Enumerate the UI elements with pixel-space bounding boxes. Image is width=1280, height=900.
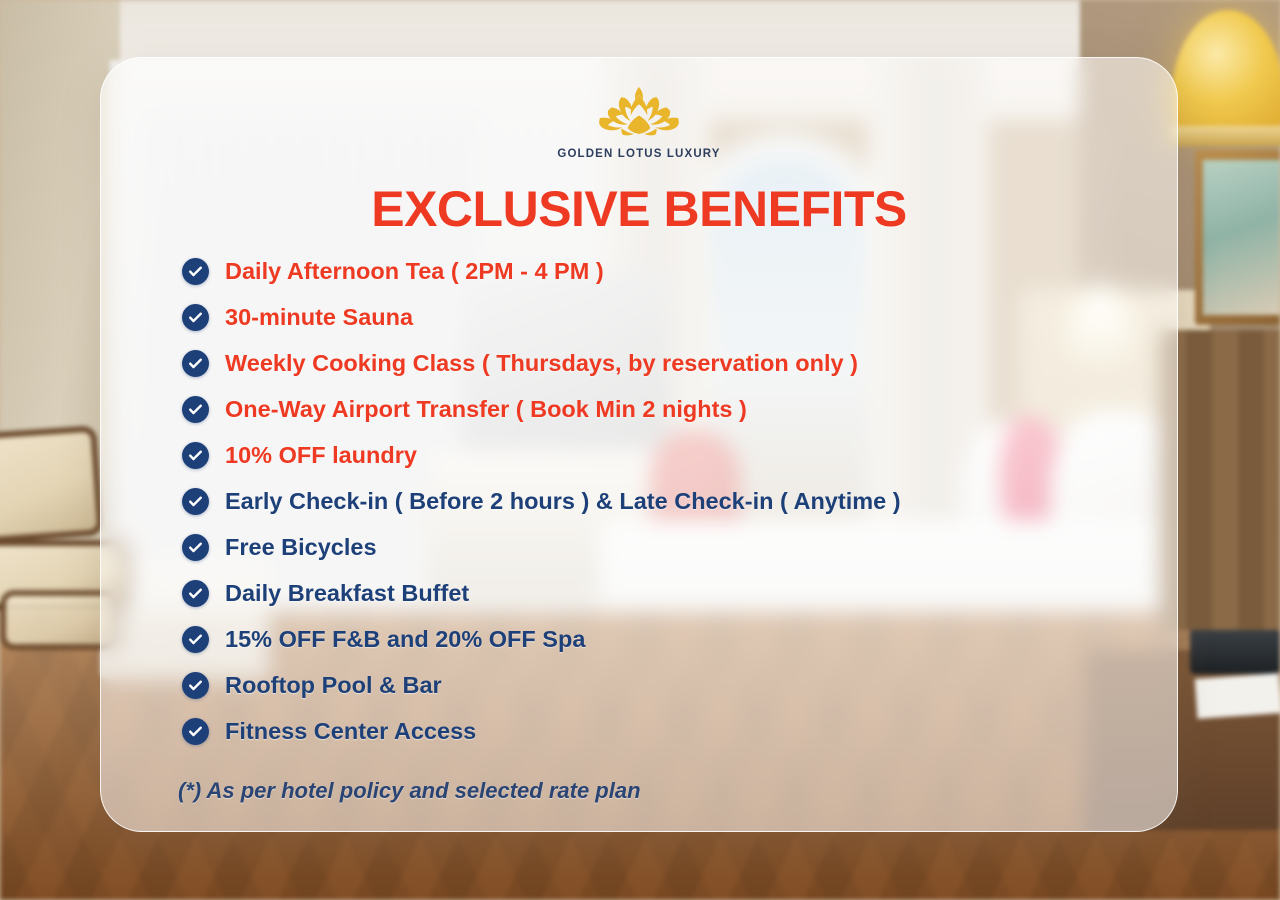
notepad: [1195, 673, 1280, 719]
benefit-label: One-Way Airport Transfer ( Book Min 2 ni…: [225, 396, 747, 423]
check-circle-icon: [182, 442, 209, 469]
framed-artwork: [1203, 160, 1280, 315]
check-circle-icon: [182, 580, 209, 607]
card-content: GOLDEN LOTUS LUXURY EXCLUSIVE BENEFITS D…: [100, 57, 1178, 832]
benefit-label: Weekly Cooking Class ( Thursdays, by res…: [225, 350, 858, 377]
check-circle-icon: [182, 396, 209, 423]
list-item: 10% OFF laundry: [182, 432, 1182, 478]
list-item: Weekly Cooking Class ( Thursdays, by res…: [182, 340, 1182, 386]
benefit-label: 30-minute Sauna: [225, 304, 413, 331]
benefits-list: Daily Afternoon Tea ( 2PM - 4 PM ) 30-mi…: [182, 248, 1182, 754]
page-title: EXCLUSIVE BENEFITS: [100, 180, 1178, 238]
check-circle-icon: [182, 258, 209, 285]
benefit-label: Daily Breakfast Buffet: [225, 580, 469, 607]
benefit-label: Fitness Center Access: [225, 718, 476, 745]
benefit-label: 10% OFF laundry: [225, 442, 417, 469]
footnote: (*) As per hotel policy and selected rat…: [178, 778, 641, 804]
list-item: 30-minute Sauna: [182, 294, 1182, 340]
benefit-label: Rooftop Pool & Bar: [225, 672, 442, 699]
check-circle-icon: [182, 534, 209, 561]
list-item: 15% OFF F&B and 20% OFF Spa: [182, 616, 1182, 662]
list-item: Fitness Center Access: [182, 708, 1182, 754]
benefit-label: Daily Afternoon Tea ( 2PM - 4 PM ): [225, 258, 604, 285]
list-item: Rooftop Pool & Bar: [182, 662, 1182, 708]
check-circle-icon: [182, 672, 209, 699]
brand-name: GOLDEN LOTUS LUXURY: [557, 148, 720, 160]
check-circle-icon: [182, 304, 209, 331]
list-item: Daily Breakfast Buffet: [182, 570, 1182, 616]
lotus-icon: [591, 85, 687, 141]
benefit-label: 15% OFF F&B and 20% OFF Spa: [225, 626, 585, 653]
list-item: Free Bicycles: [182, 524, 1182, 570]
check-circle-icon: [182, 626, 209, 653]
brand-logo: GOLDEN LOTUS LUXURY: [100, 85, 1178, 160]
benefit-label: Early Check-in ( Before 2 hours ) & Late…: [225, 488, 901, 515]
promo-graphic: GOLDEN LOTUS LUXURY EXCLUSIVE BENEFITS D…: [0, 0, 1280, 900]
check-circle-icon: [182, 718, 209, 745]
armchair: [0, 425, 104, 544]
list-item: Early Check-in ( Before 2 hours ) & Late…: [182, 478, 1182, 524]
list-item: Daily Afternoon Tea ( 2PM - 4 PM ): [182, 248, 1182, 294]
telephone: [1190, 628, 1280, 674]
gold-pendant-lamp-rim: [1168, 126, 1280, 146]
list-item: One-Way Airport Transfer ( Book Min 2 ni…: [182, 386, 1182, 432]
check-circle-icon: [182, 350, 209, 377]
benefit-label: Free Bicycles: [225, 534, 377, 561]
check-circle-icon: [182, 488, 209, 515]
